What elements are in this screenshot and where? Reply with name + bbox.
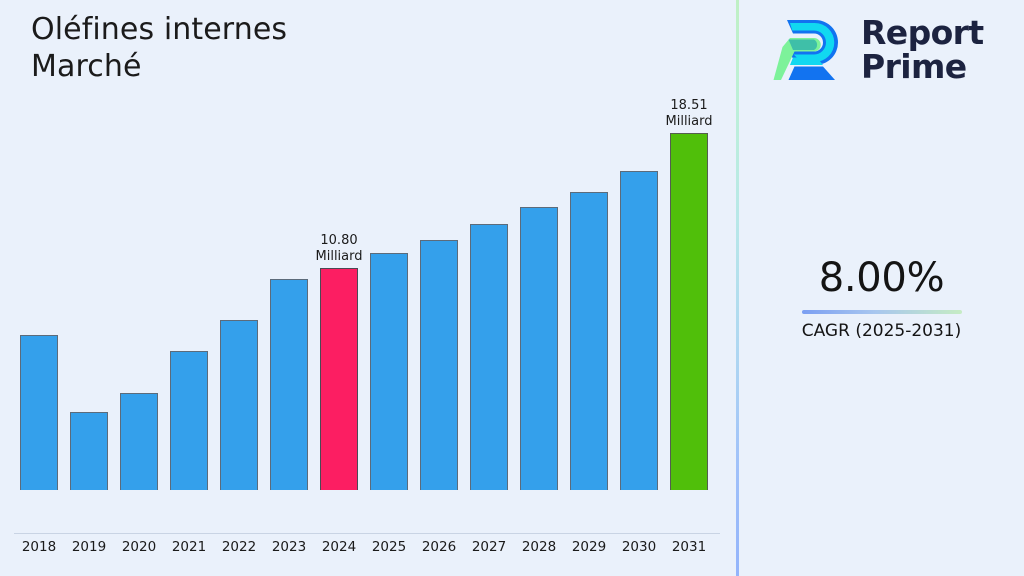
- bar-group-2027[interactable]: [464, 0, 514, 490]
- x-tick-2027: 2027: [464, 539, 514, 555]
- bar-2024[interactable]: [320, 268, 358, 490]
- x-tick-2031: 2031: [664, 539, 714, 555]
- bar-2029[interactable]: [570, 192, 608, 490]
- bar-group-2022[interactable]: [214, 0, 264, 490]
- x-tick-2020: 2020: [114, 539, 164, 555]
- brand-name-line-2: Prime: [861, 50, 984, 84]
- x-tick-2019: 2019: [64, 539, 114, 555]
- x-tick-2028: 2028: [514, 539, 564, 555]
- cagr-divider-rule: [802, 310, 962, 314]
- cagr-value: 8.00%: [739, 255, 1024, 301]
- bar-2026[interactable]: [420, 240, 458, 490]
- bar-group-2019[interactable]: [64, 0, 114, 490]
- brand-wordmark: Report Prime: [861, 16, 984, 84]
- bar-2018[interactable]: [20, 335, 58, 490]
- bar-2031[interactable]: [670, 133, 708, 490]
- bar-2027[interactable]: [470, 224, 508, 490]
- x-tick-2018: 2018: [14, 539, 64, 555]
- bar-2025[interactable]: [370, 253, 408, 490]
- x-tick-2021: 2021: [164, 539, 214, 555]
- x-tick-2026: 2026: [414, 539, 464, 555]
- brand-logo: Report Prime: [772, 12, 984, 88]
- bar-value-label-2024: 10.80 Milliard: [316, 233, 363, 264]
- bar-group-2023[interactable]: [264, 0, 314, 490]
- bar-group-2021[interactable]: [164, 0, 214, 490]
- bar-group-2025[interactable]: [364, 0, 414, 490]
- bar-2028[interactable]: [520, 207, 558, 490]
- x-tick-2023: 2023: [264, 539, 314, 555]
- brand-panel: Report Prime 8.00% CAGR (2025-2031): [739, 0, 1024, 576]
- chart-screenshot: Oléfines internes Marché 10.80 Milliard1…: [0, 0, 1024, 576]
- report-prime-r-logomark: [772, 12, 847, 88]
- bar-2030[interactable]: [620, 171, 658, 490]
- bar-value-label-2031: 18.51 Milliard: [666, 98, 713, 129]
- chart-panel: Oléfines internes Marché 10.80 Milliard1…: [0, 0, 737, 576]
- bar-group-2028[interactable]: [514, 0, 564, 490]
- x-axis-tick-labels: 2018201920202021202220232024202520262027…: [0, 539, 737, 569]
- x-tick-2029: 2029: [564, 539, 614, 555]
- cagr-block: 8.00% CAGR (2025-2031): [739, 255, 1024, 342]
- bar-group-2029[interactable]: [564, 0, 614, 490]
- bar-series: 10.80 Milliard18.51 Milliard: [0, 0, 737, 533]
- x-tick-2024: 2024: [314, 539, 364, 555]
- bar-group-2031[interactable]: 18.51 Milliard: [664, 0, 714, 490]
- bar-2020[interactable]: [120, 393, 158, 490]
- bar-group-2018[interactable]: [14, 0, 64, 490]
- bar-group-2026[interactable]: [414, 0, 464, 490]
- bar-group-2020[interactable]: [114, 0, 164, 490]
- bar-2021[interactable]: [170, 351, 208, 490]
- cagr-caption: CAGR (2025-2031): [739, 320, 1024, 342]
- bar-2022[interactable]: [220, 320, 258, 490]
- x-axis-line: [14, 533, 720, 534]
- x-tick-2022: 2022: [214, 539, 264, 555]
- bar-group-2030[interactable]: [614, 0, 664, 490]
- brand-name-line-1: Report: [861, 16, 984, 50]
- x-tick-2025: 2025: [364, 539, 414, 555]
- bar-2019[interactable]: [70, 412, 108, 490]
- bar-2023[interactable]: [270, 279, 308, 490]
- x-tick-2030: 2030: [614, 539, 664, 555]
- bar-group-2024[interactable]: 10.80 Milliard: [314, 0, 364, 490]
